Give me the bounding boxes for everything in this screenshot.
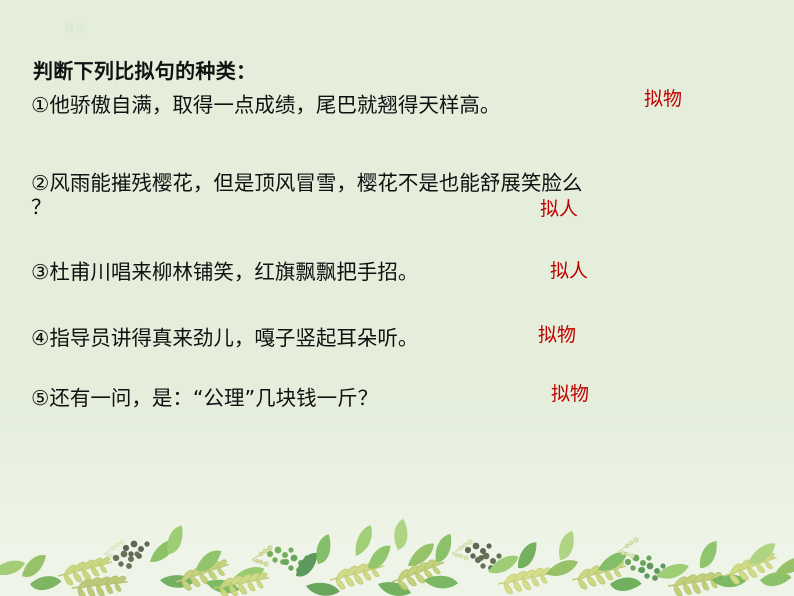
sentence-5: ⑤还有一问，是：“公理”几块钱一斤？: [31, 381, 378, 411]
sentence-2-line-1: ②风雨能摧残樱花，但是顶风冒雪，樱花不是也能舒展笑脸么: [31, 166, 582, 196]
sentence-3: ③杜甫川唱来柳林铺笑，红旗飘飘把手招。: [31, 255, 418, 285]
answer-label-3: 拟人: [550, 256, 588, 283]
page-title: 判断下列比拟句的种类：: [33, 55, 256, 84]
sentence-2-line-2: ？: [31, 190, 52, 220]
slide-text-content: 判断下列比拟句的种类： ①他骄傲自满，取得一点成绩，尾巴就翘得天样高。 拟物 ②…: [0, 0, 794, 470]
answer-label-2: 拟人: [540, 194, 578, 221]
sentence-1: ①他骄傲自满，取得一点成绩，尾巴就翘得天样高。: [31, 88, 500, 118]
answer-label-4: 拟物: [538, 320, 576, 347]
slide-canvas: 课件 判断下列比拟句的种类： ①他骄傲自满，取得一点成绩，尾巴就翘得天样高。 拟…: [0, 0, 794, 596]
sentence-4: ④指导员讲得真来劲儿，嘎子竖起耳朵听。: [31, 321, 418, 351]
leaf-border-decoration: [0, 510, 794, 596]
answer-label-1: 拟物: [644, 84, 682, 111]
answer-label-5: 拟物: [551, 379, 589, 406]
